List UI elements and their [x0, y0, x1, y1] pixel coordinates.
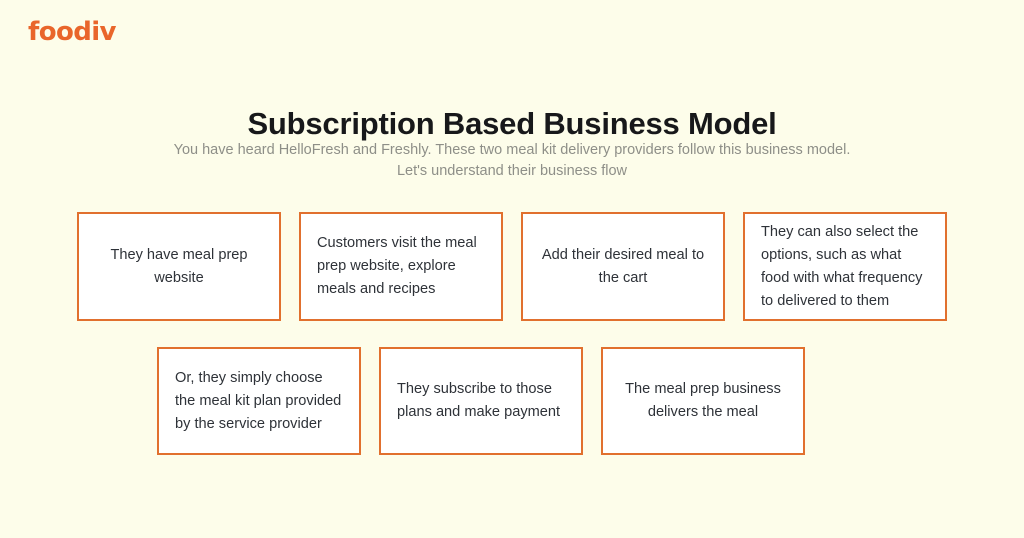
flow-step-box[interactable]: Customers visit the meal prep website, e… [299, 212, 503, 321]
flow-step-label: They subscribe to those plans and make p… [381, 378, 581, 424]
flow-step-box[interactable]: Or, they simply choose the meal kit plan… [157, 347, 361, 455]
flow-step-box[interactable]: They subscribe to those plans and make p… [379, 347, 583, 455]
foodiv-logo[interactable]: foodiv [28, 19, 116, 45]
flow-row-2: Or, they simply choose the meal kit plan… [157, 347, 805, 455]
page-subtitle: You have heard HelloFresh and Freshly. T… [0, 140, 1024, 182]
flow-step-label: Or, they simply choose the meal kit plan… [159, 367, 359, 436]
page-root: foodiv Subscription Based Business Model… [0, 0, 1024, 538]
flow-step-label: They have meal prep website [79, 244, 279, 290]
subtitle-line-1: You have heard HelloFresh and Freshly. T… [0, 140, 1024, 161]
flow-step-box[interactable]: Add their desired meal to the cart [521, 212, 725, 321]
flow-step-box[interactable]: The meal prep business delivers the meal [601, 347, 805, 455]
flow-step-label: Add their desired meal to the cart [523, 244, 723, 290]
flow-row-1: They have meal prep websiteCustomers vis… [77, 212, 947, 321]
flow-step-box[interactable]: They have meal prep website [77, 212, 281, 321]
flow-step-label: The meal prep business delivers the meal [603, 378, 803, 424]
subtitle-line-2: Let's understand their business flow [0, 161, 1024, 182]
flow-step-label: They can also select the options, such a… [745, 221, 945, 313]
flow-step-box[interactable]: They can also select the options, such a… [743, 212, 947, 321]
page-title: Subscription Based Business Model [0, 105, 1024, 142]
flow-step-label: Customers visit the meal prep website, e… [301, 232, 501, 301]
